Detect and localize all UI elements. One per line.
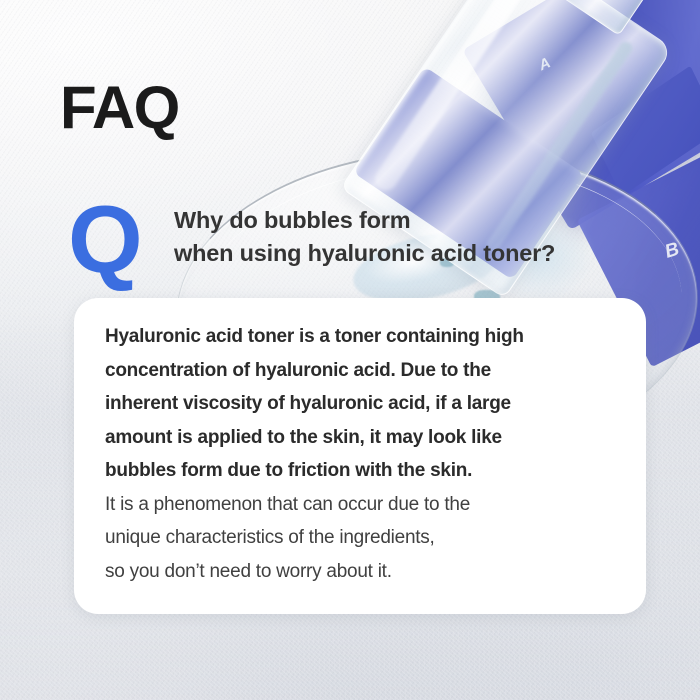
page-title: FAQ [60,78,179,138]
answer-line: It is a phenomenon that can occur due to… [105,488,624,522]
question-line: Why do bubbles form [174,204,555,237]
answer-line: amount is applied to the skin, it may lo… [105,421,624,455]
answer-card: Hyaluronic acid toner is a toner contain… [74,298,646,614]
answer-line: inherent viscosity of hyaluronic acid, i… [105,387,624,421]
faq-graphic: A B FAQ Q Why do bubbles form when using… [0,0,700,700]
answer-line: Hyaluronic acid toner is a toner contain… [105,320,624,354]
question-marker-icon: Q [68,192,141,288]
answer-line: concentration of hyaluronic acid. Due to… [105,354,624,388]
question-line: when using hyaluronic acid toner? [174,237,555,270]
answer-line: bubbles form due to friction with the sk… [105,454,624,488]
question-text: Why do bubbles form when using hyaluroni… [174,204,555,271]
answer-line: so you don’t need to worry about it. [105,555,624,589]
answer-text-block: Hyaluronic acid toner is a toner contain… [105,320,624,588]
answer-line: unique characteristics of the ingredient… [105,521,624,555]
